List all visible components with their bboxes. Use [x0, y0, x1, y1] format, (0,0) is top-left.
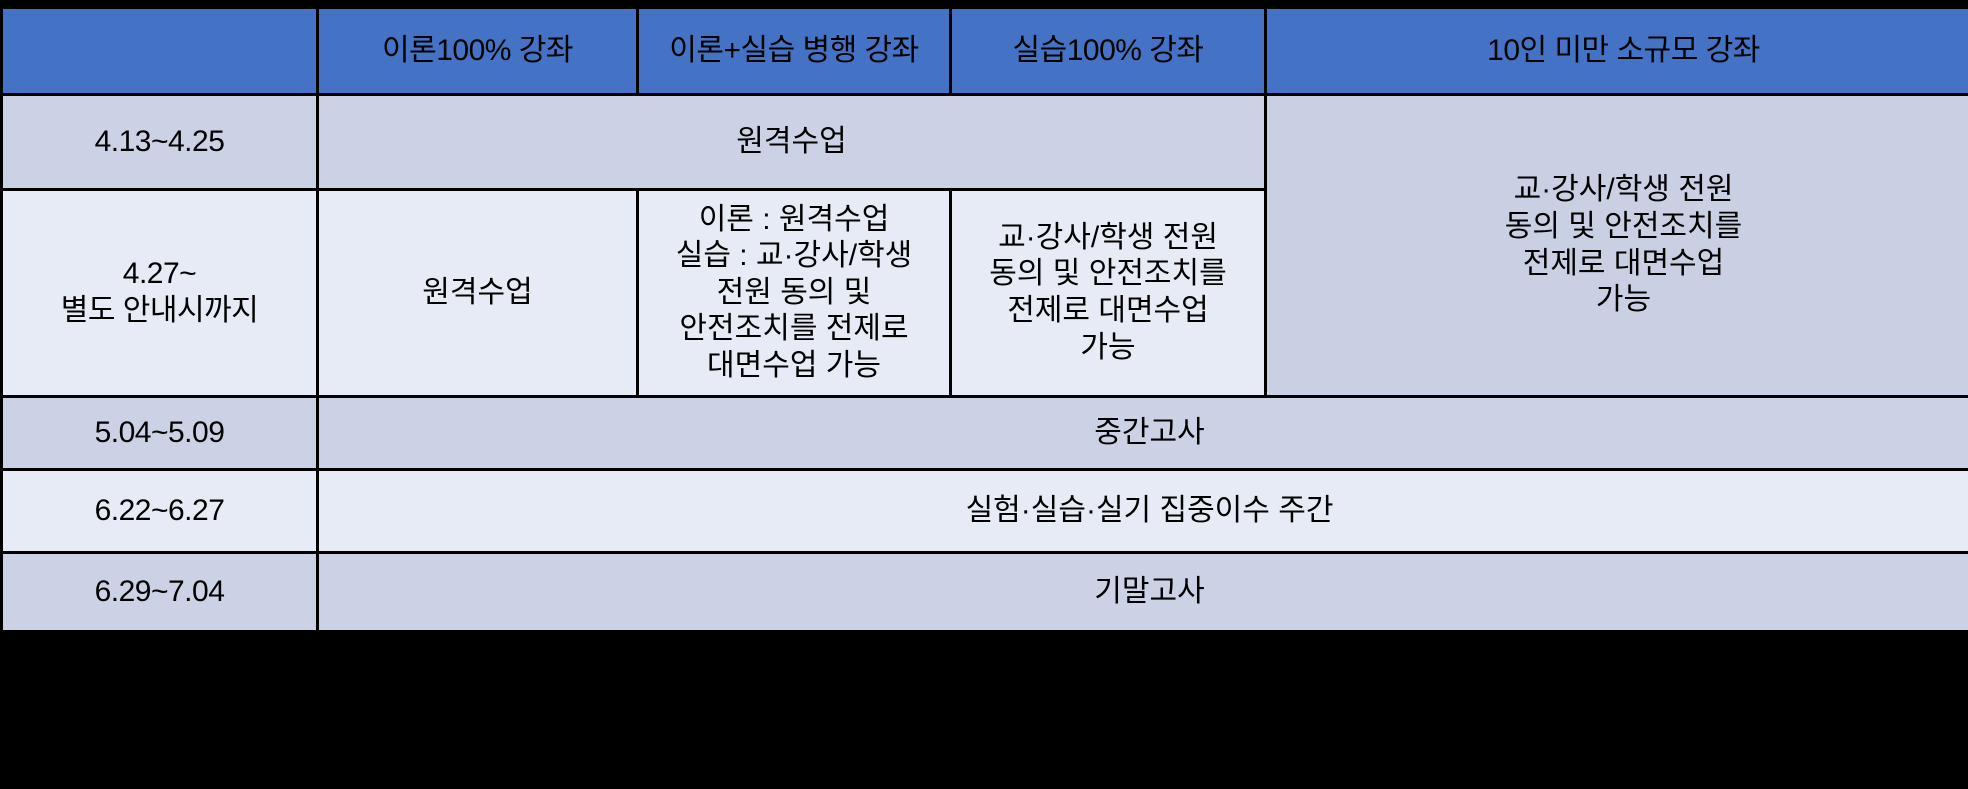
- table-header: 이론100% 강좌 이론+실습 병행 강좌 실습100% 강좌 10인 미만 소…: [3, 9, 1968, 93]
- cell-period-5: 6.29~7.04: [3, 554, 316, 630]
- header-cell-period: [3, 9, 316, 93]
- cell-period-3: 5.04~5.09: [3, 398, 316, 468]
- table-body: 4.13~4.25 원격수업 교·강사/학생 전원 동의 및 안전조치를 전제로…: [3, 96, 1968, 630]
- class-schedule-table: 이론100% 강좌 이론+실습 병행 강좌 실습100% 강좌 10인 미만 소…: [0, 6, 1968, 633]
- cell-mixed-row2: 이론 : 원격수업 실습 : 교·강사/학생 전원 동의 및 안전조치를 전제로…: [639, 191, 949, 395]
- cell-period-2: 4.27~ 별도 안내시까지: [3, 191, 316, 395]
- cell-final-exam: 기말고사: [319, 554, 1968, 630]
- schedule-sheet: 이론100% 강좌 이론+실습 병행 강좌 실습100% 강좌 10인 미만 소…: [0, 0, 1968, 789]
- cell-period-1: 4.13~4.25: [3, 96, 316, 188]
- header-cell-practice100: 실습100% 강좌: [952, 9, 1264, 93]
- cell-midterm-exam: 중간고사: [319, 398, 1968, 468]
- header-row: 이론100% 강좌 이론+실습 병행 강좌 실습100% 강좌 10인 미만 소…: [3, 9, 1968, 93]
- cell-period-4: 6.22~6.27: [3, 471, 316, 551]
- table-row: 5.04~5.09 중간고사: [3, 398, 1968, 468]
- header-cell-mixed: 이론+실습 병행 강좌: [639, 9, 949, 93]
- cell-intensive-lab-week: 실험·실습·실기 집중이수 주간: [319, 471, 1968, 551]
- cell-remote-class-row1: 원격수업: [319, 96, 1264, 188]
- cell-theory100-row2: 원격수업: [319, 191, 636, 395]
- cell-practice100-row2: 교·강사/학생 전원 동의 및 안전조치를 전제로 대면수업 가능: [952, 191, 1264, 395]
- header-cell-theory100: 이론100% 강좌: [319, 9, 636, 93]
- table-row: 4.13~4.25 원격수업 교·강사/학생 전원 동의 및 안전조치를 전제로…: [3, 96, 1968, 188]
- table-row: 6.29~7.04 기말고사: [3, 554, 1968, 630]
- header-cell-small: 10인 미만 소규모 강좌: [1267, 9, 1968, 93]
- cell-small-course-merged: 교·강사/학생 전원 동의 및 안전조치를 전제로 대면수업 가능: [1267, 96, 1968, 395]
- table-row: 6.22~6.27 실험·실습·실기 집중이수 주간: [3, 471, 1968, 551]
